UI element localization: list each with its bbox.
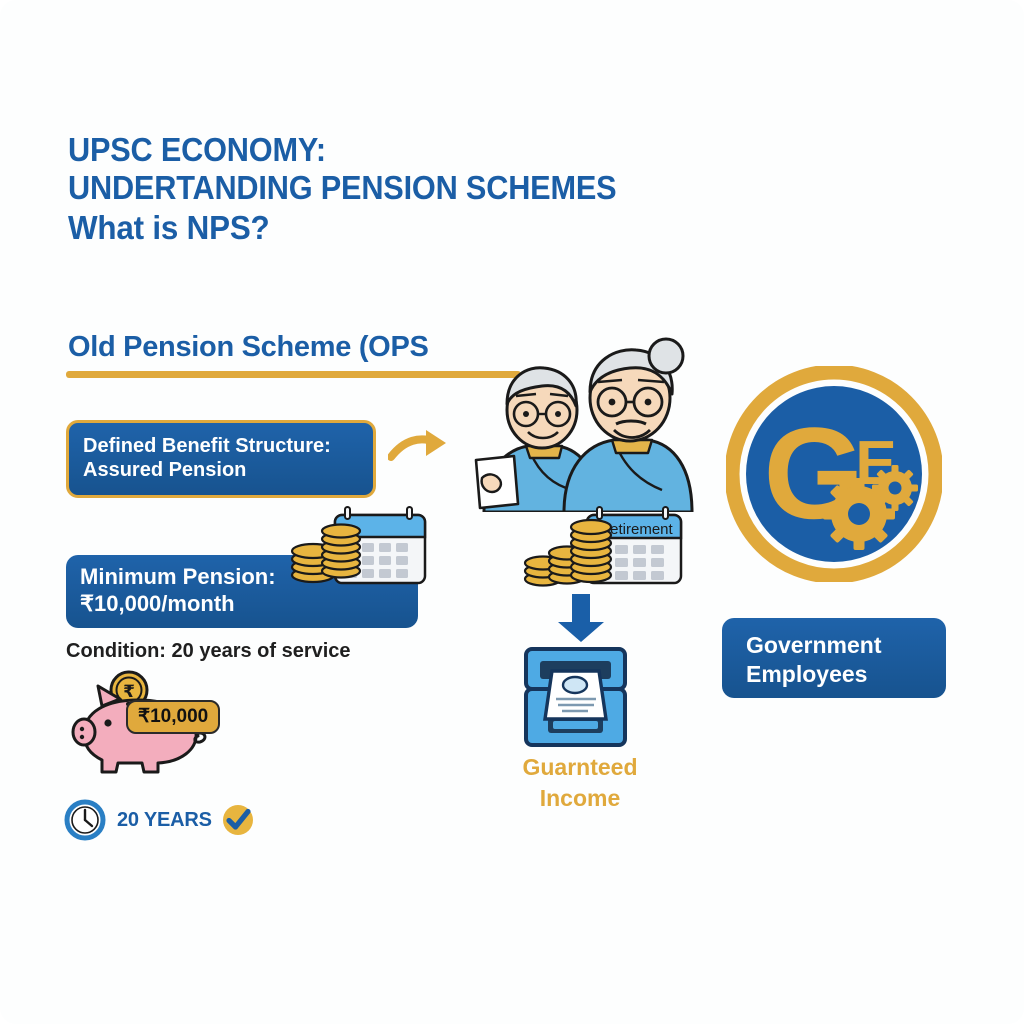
defined-benefit-line-2: Assured Pension [83,458,373,482]
gov-emp-line-1: Government [746,631,946,660]
clock-icon [63,798,107,842]
title-line-1: UPSC ECONOMY: [68,131,747,169]
guaranteed-income-label: Guarnteed Income [480,752,680,814]
title-line-3: What is NPS? [68,209,762,247]
atm-machine-icon [518,645,633,750]
guaranteed-line-1: Guarnteed [480,752,680,783]
infographic-canvas: UPSC ECONOMY: UNDERTANDING PENSION SCHEM… [0,0,1024,1024]
section-underline [66,371,521,378]
years-label: 20 YEARS [117,809,212,832]
defined-benefit-box: Defined Benefit Structure: Assured Pensi… [66,420,376,498]
coin-stack-icon [292,525,360,583]
defined-benefit-line-1: Defined Benefit Structure: [83,434,373,458]
down-arrow-icon [555,592,607,644]
government-employees-badge-icon: G E [726,366,942,582]
check-badge-icon [221,803,255,837]
tenure-row: 20 YEARS [63,797,255,843]
elderly-couple-icon [466,332,696,512]
gear-icon [872,465,918,511]
coin-stack-icon [525,520,611,586]
retirement-calendar-icon [283,505,428,587]
piggy-amount-tag: ₹10,000 [126,700,220,734]
page-title: UPSC ECONOMY: UNDERTANDING PENSION SCHEM… [68,131,798,247]
minimum-pension-line-2: ₹10,000/month [80,591,418,618]
government-employees-box: Government Employees [722,618,946,698]
retirement-calendar-icon: Retirement [523,505,683,591]
curved-right-arrow-icon [388,424,452,480]
title-line-2: UNDERTANDING PENSION SCHEMES [68,169,747,207]
condition-text: Condition: 20 years of service [66,640,351,663]
guaranteed-line-2: Income [480,783,680,814]
gov-emp-line-2: Employees [746,660,946,689]
